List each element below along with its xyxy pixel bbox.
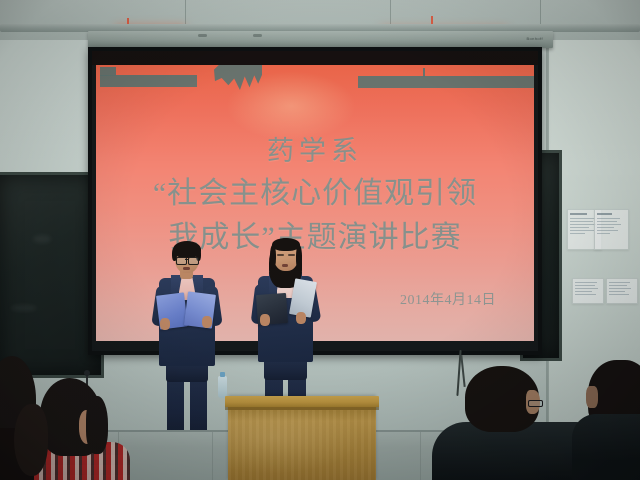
audience-right-man-glasses-icon xyxy=(528,400,543,407)
speaker-male-mouth xyxy=(183,267,190,270)
floor-tile-line xyxy=(212,432,213,480)
posted-notice-2 xyxy=(594,209,629,250)
projector-screen-casing[interactable]: Bonhoff xyxy=(88,31,553,48)
notice-text-lines xyxy=(609,282,635,297)
water-bottle-cap xyxy=(220,372,225,377)
chalk-smudge xyxy=(33,235,51,243)
microphone-head xyxy=(84,370,90,376)
slide-line-theme-2: 我成长”主题演讲比赛 xyxy=(96,212,534,256)
lectern-wood-grain xyxy=(228,410,376,480)
slide-line-department: 药学系 xyxy=(96,129,534,168)
audience-far-right-body xyxy=(572,414,640,480)
speaker-female-hair-side-right xyxy=(296,245,302,271)
lectern xyxy=(228,396,376,480)
speaker-female-hair-side-left xyxy=(270,245,276,269)
speaker-female-brow-right xyxy=(288,254,295,256)
audience-left-girl-hair-front xyxy=(86,396,108,454)
screen-top-bar xyxy=(92,51,538,65)
casing-knob xyxy=(198,34,207,37)
floor-tile-line xyxy=(420,432,421,480)
chalk-smudge xyxy=(11,305,37,311)
speaker-female-mouth xyxy=(282,264,288,267)
audience-far-right-face-edge xyxy=(586,386,598,408)
notice-text-lines xyxy=(575,282,601,297)
classroom-photo-scene: Bonhoff 药学系 “社会主核心价值观引领 我成长”主题演讲比赛 2014年… xyxy=(0,0,640,480)
speaker-male-glasses-bridge xyxy=(185,259,189,260)
casing-knob xyxy=(253,34,262,37)
slide-line-theme-1: “社会主核心价值观引领 xyxy=(96,168,534,212)
notice-text-lines xyxy=(597,213,626,236)
speaker-female-hand-left xyxy=(260,314,270,326)
speaker-male-hand-right xyxy=(202,316,212,328)
water-bottle xyxy=(218,376,227,398)
posted-notice-4 xyxy=(606,278,638,304)
speaker-male-hand-left xyxy=(160,318,170,330)
speaker-male-glasses-right-lens xyxy=(188,257,199,265)
slide-date: 2014年4月14日 xyxy=(400,289,496,309)
casing-brand-label: Bonhoff xyxy=(526,36,543,41)
posted-notice-3 xyxy=(572,278,604,304)
speaker-female-hand-right xyxy=(296,312,306,324)
speaker-female-brow-left xyxy=(277,254,284,256)
audience-left-girl-ponytail xyxy=(14,404,48,476)
lectern-top-surface xyxy=(225,396,379,407)
